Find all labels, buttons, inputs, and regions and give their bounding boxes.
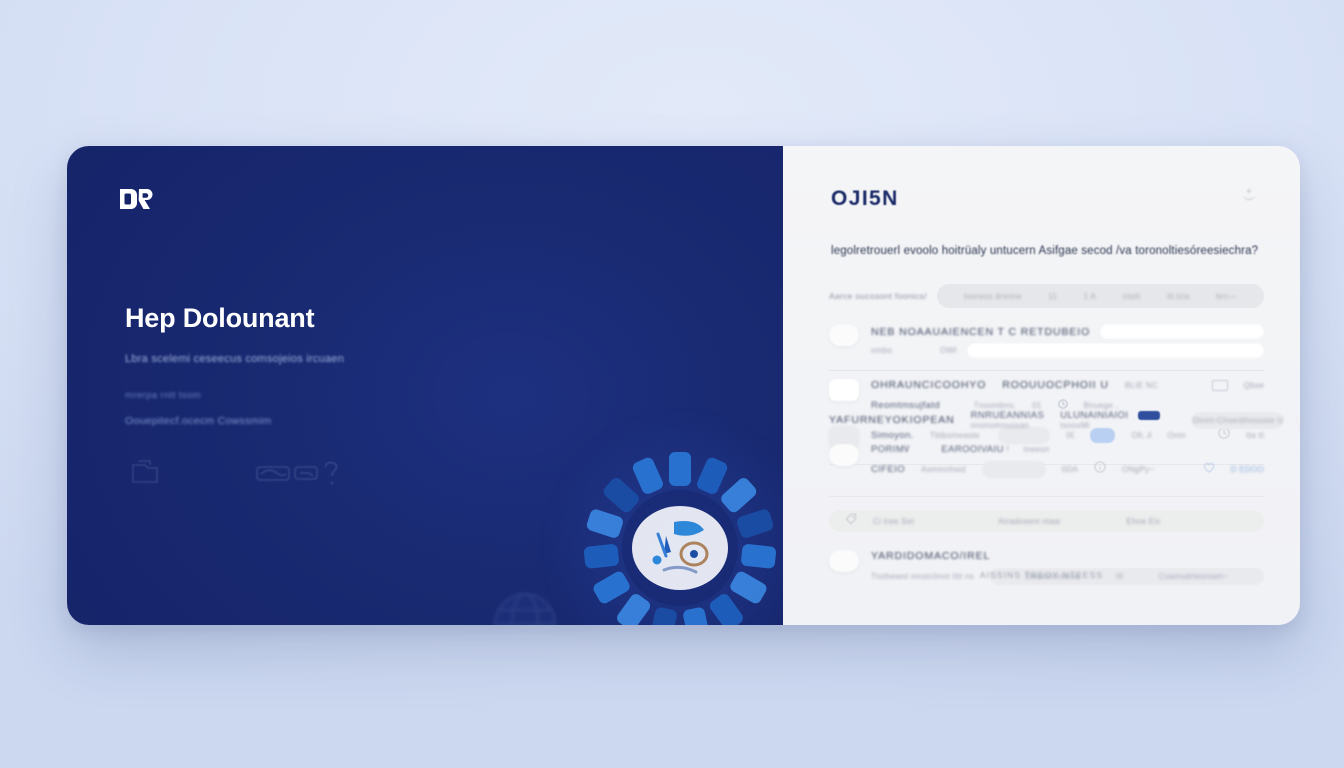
secondary-list: YAFURNEYOKIOPEAN RNRUEANNIAS nnonomnussa… [829, 410, 1264, 497]
list-item-title-right: EAROOIVAIU UIO [941, 444, 1007, 455]
page-title: Hep Dolounant [125, 303, 465, 333]
trailing-count: D EDOO [1231, 465, 1264, 474]
tag-icon [845, 512, 857, 530]
card-icon [257, 467, 289, 480]
status-badge [1138, 411, 1160, 420]
list-item-meta: Tnsombns, [974, 401, 1016, 410]
list-item-count: 01 [1032, 401, 1042, 410]
folder-icon [133, 461, 157, 482]
divider [829, 370, 1264, 371]
section-title-3: ULUNAINIAIOI [1060, 410, 1128, 421]
brand-title: OJI5N [831, 187, 899, 211]
avatar [829, 324, 859, 346]
footer-item[interactable]: Atradosent ntaw [998, 517, 1060, 526]
toolbar-chip[interactable]: itt.tcis [1167, 292, 1190, 301]
tag-icon [295, 467, 317, 479]
dr-monogram-logo[interactable] [118, 184, 156, 214]
hero-subtitle: Lbra scelemi ceseecus comsojeios ircuaen [125, 351, 465, 368]
checkbox[interactable] [1212, 380, 1228, 391]
list-item-meta: OWl [940, 346, 956, 355]
status-badge: Bnuege , [1084, 401, 1118, 410]
section-header: YAFURNEYOKIOPEAN RNRUEANNIAS nnonomnussa… [829, 410, 1264, 430]
list-item-value: 0DA [1062, 465, 1078, 474]
list-item-meta: Asmmnhsid [921, 465, 966, 474]
avatar [829, 444, 859, 466]
toolbar-chip[interactable]: 11 [1048, 292, 1057, 301]
radial-hub-illustration [540, 408, 783, 625]
hero-meta-label: mrerpa rntt tsom [125, 390, 465, 401]
left-hero-panel: Hep Dolounant Lbra scelemi ceseecus coms… [67, 146, 783, 625]
toolbar-chip[interactable]: 1 A [1084, 292, 1096, 301]
divider [829, 496, 1264, 497]
question-mark-icon [325, 463, 337, 485]
action-button-label: Divint-Chserbhoousie U [1192, 416, 1283, 425]
list-item[interactable]: PORIMW~ EAROOIVAIU UIO Ineesnu/ CIFEIO A… [829, 438, 1264, 484]
right-content-panel: OJI5N legolretrouerl evoolo hoitrüaly un… [783, 146, 1300, 625]
list-item-title: PORIMW~ [871, 444, 909, 455]
hero-meta-value: Oouepitecf.ocecm Cowssmim [125, 415, 465, 427]
toolbar-chip[interactable]: brc— [1216, 292, 1236, 301]
footer-toolbar[interactable]: Ci tree Set Atradosent ntaw Ehne Eic [829, 510, 1264, 532]
progress-bar [982, 461, 1046, 478]
toolbar: Aarce oucosont foonics/ tooreos drsrine … [829, 283, 1264, 309]
secondary-input[interactable] [967, 343, 1264, 358]
list-item-title-right-2: Ineesnu/ [1024, 445, 1050, 454]
trailing-label: ONgPy~ [1122, 465, 1154, 474]
avatar [829, 550, 859, 572]
bottom-item-title: YARDIDOMACO/IREL [871, 550, 1264, 562]
list-item-title-secondary: ROOUUOCPHOII U [1002, 379, 1109, 391]
avatar [1299, 413, 1300, 427]
chevron-down-icon[interactable] [1238, 186, 1260, 213]
section-subtitle: RNRUEANNIAS [971, 410, 1045, 421]
section-subtitle-2: nnonomnussan [971, 421, 1045, 430]
segmented-control[interactable]: tooreos drsrine 11 1 A ctsiti itt.tcis b… [937, 284, 1264, 308]
info-icon[interactable] [1094, 460, 1106, 478]
search-input[interactable] [1100, 324, 1264, 339]
list-item-title-tertiary: BLIE NC [1125, 381, 1158, 390]
bottom-list-item[interactable]: YARDIDOMACO/IREL Ttothewol mnstclinot It… [829, 544, 1264, 591]
avatar [829, 379, 859, 401]
toolbar-chip[interactable]: tooreos drsrine [964, 292, 1022, 301]
lead-paragraph: legolretrouerl evoolo hoitrüaly untucern… [831, 245, 1262, 257]
toolbar-chip[interactable]: ctsiti [1123, 292, 1141, 301]
heart-icon[interactable] [1203, 460, 1215, 478]
action-button[interactable]: Divint-Chserbhoousie U [1192, 412, 1283, 429]
list-item-title: OHRAUNCICOOHYO [871, 379, 986, 391]
list-item-title: NEB NOAAUAIENCEN T C RETDUBEIO [871, 326, 1090, 338]
section-title: YAFURNEYOKIOPEAN [829, 414, 955, 426]
panel-header: OJI5N [831, 182, 1260, 216]
list-item-subtitle: ombo [871, 346, 892, 355]
ghost-icon-row [129, 455, 429, 491]
app-card: Hep Dolounant Lbra scelemi ceseecus coms… [67, 146, 1300, 625]
toolbar-label: Aarce oucosont foonics/ [829, 291, 927, 301]
section-subtitle-3: tsooxMi [1060, 421, 1160, 430]
footer-item[interactable]: Ehne Eic [1126, 517, 1160, 526]
bottom-note: AISSINS TREOY NTEESS [783, 570, 1300, 580]
list-item-subtitle: Reomtmsujfatd [871, 400, 940, 411]
footer-item[interactable]: Ci tree Set [873, 517, 914, 526]
list-item[interactable]: NEB NOAAUAIENCEN T C RETDUBEIO ombo OWl [829, 318, 1264, 364]
hero-text-block: Hep Dolounant Lbra scelemi ceseecus coms… [125, 303, 465, 427]
list-item-subtitle: CIFEIO [871, 464, 905, 475]
checkbox-label: Qbse [1244, 381, 1264, 390]
